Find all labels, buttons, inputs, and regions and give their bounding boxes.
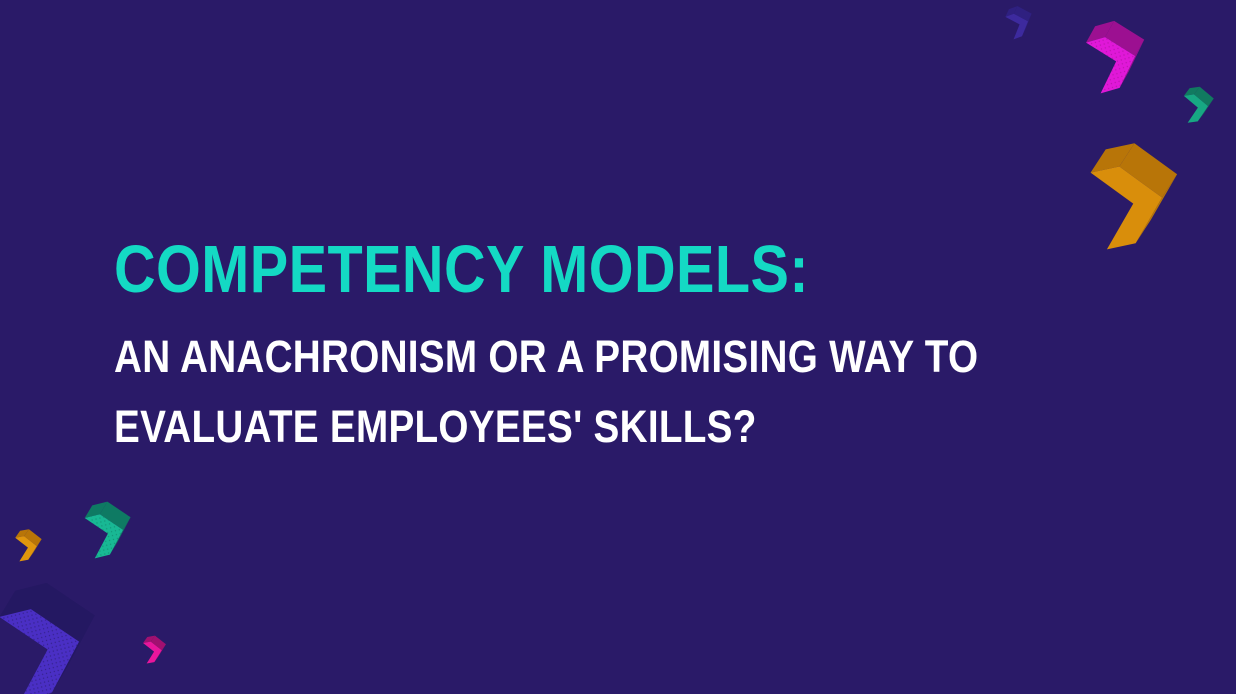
chevron-green-medium-icon — [77, 499, 153, 575]
chevron-orange-small-left-icon — [11, 529, 53, 571]
presentation-slide: COMPETENCY MODELS: An anachronism or a p… — [0, 0, 1236, 694]
chevron-magenta-large-icon — [1077, 17, 1175, 115]
title-block: COMPETENCY MODELS: An anachronism or a p… — [114, 236, 1014, 462]
chevron-magenta-small-icon — [140, 636, 176, 672]
chevron-purple-small-top-icon — [1001, 3, 1047, 49]
page-subtitle: An anachronism or a promising way to eva… — [114, 304, 1026, 462]
chevron-teal-small-right-icon — [1179, 87, 1225, 133]
page-title: COMPETENCY MODELS: — [114, 236, 888, 304]
chevron-blue-large-icon — [0, 578, 141, 694]
chevron-orange-large-icon — [1077, 141, 1216, 280]
